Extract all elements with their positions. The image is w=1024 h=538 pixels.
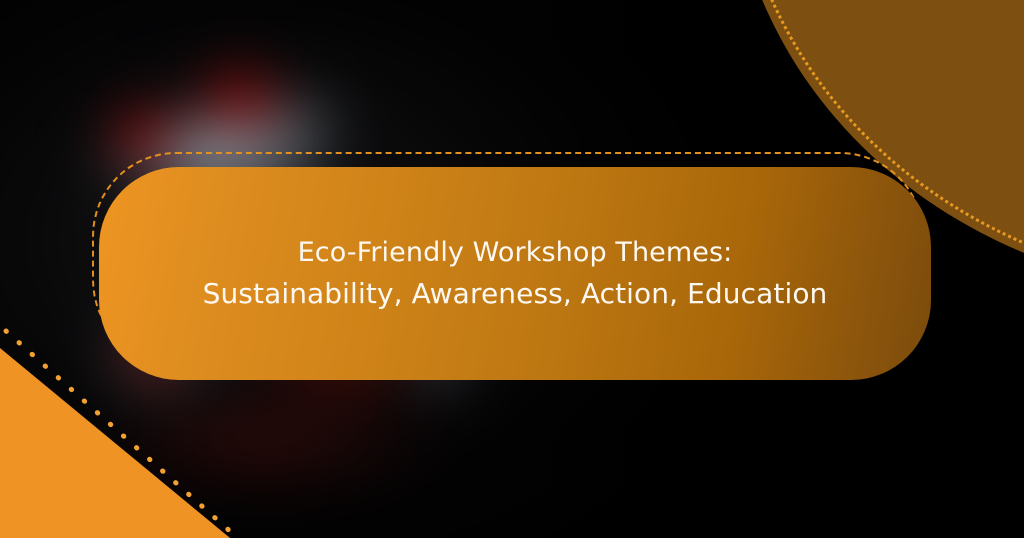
title-line-1: Eco-Friendly Workshop Themes: bbox=[298, 233, 733, 273]
banner-canvas: Eco-Friendly Workshop Themes: Sustainabi… bbox=[0, 0, 1024, 538]
title-line-2: Sustainability, Awareness, Action, Educa… bbox=[203, 273, 828, 314]
title-card: Eco-Friendly Workshop Themes: Sustainabi… bbox=[99, 167, 931, 380]
